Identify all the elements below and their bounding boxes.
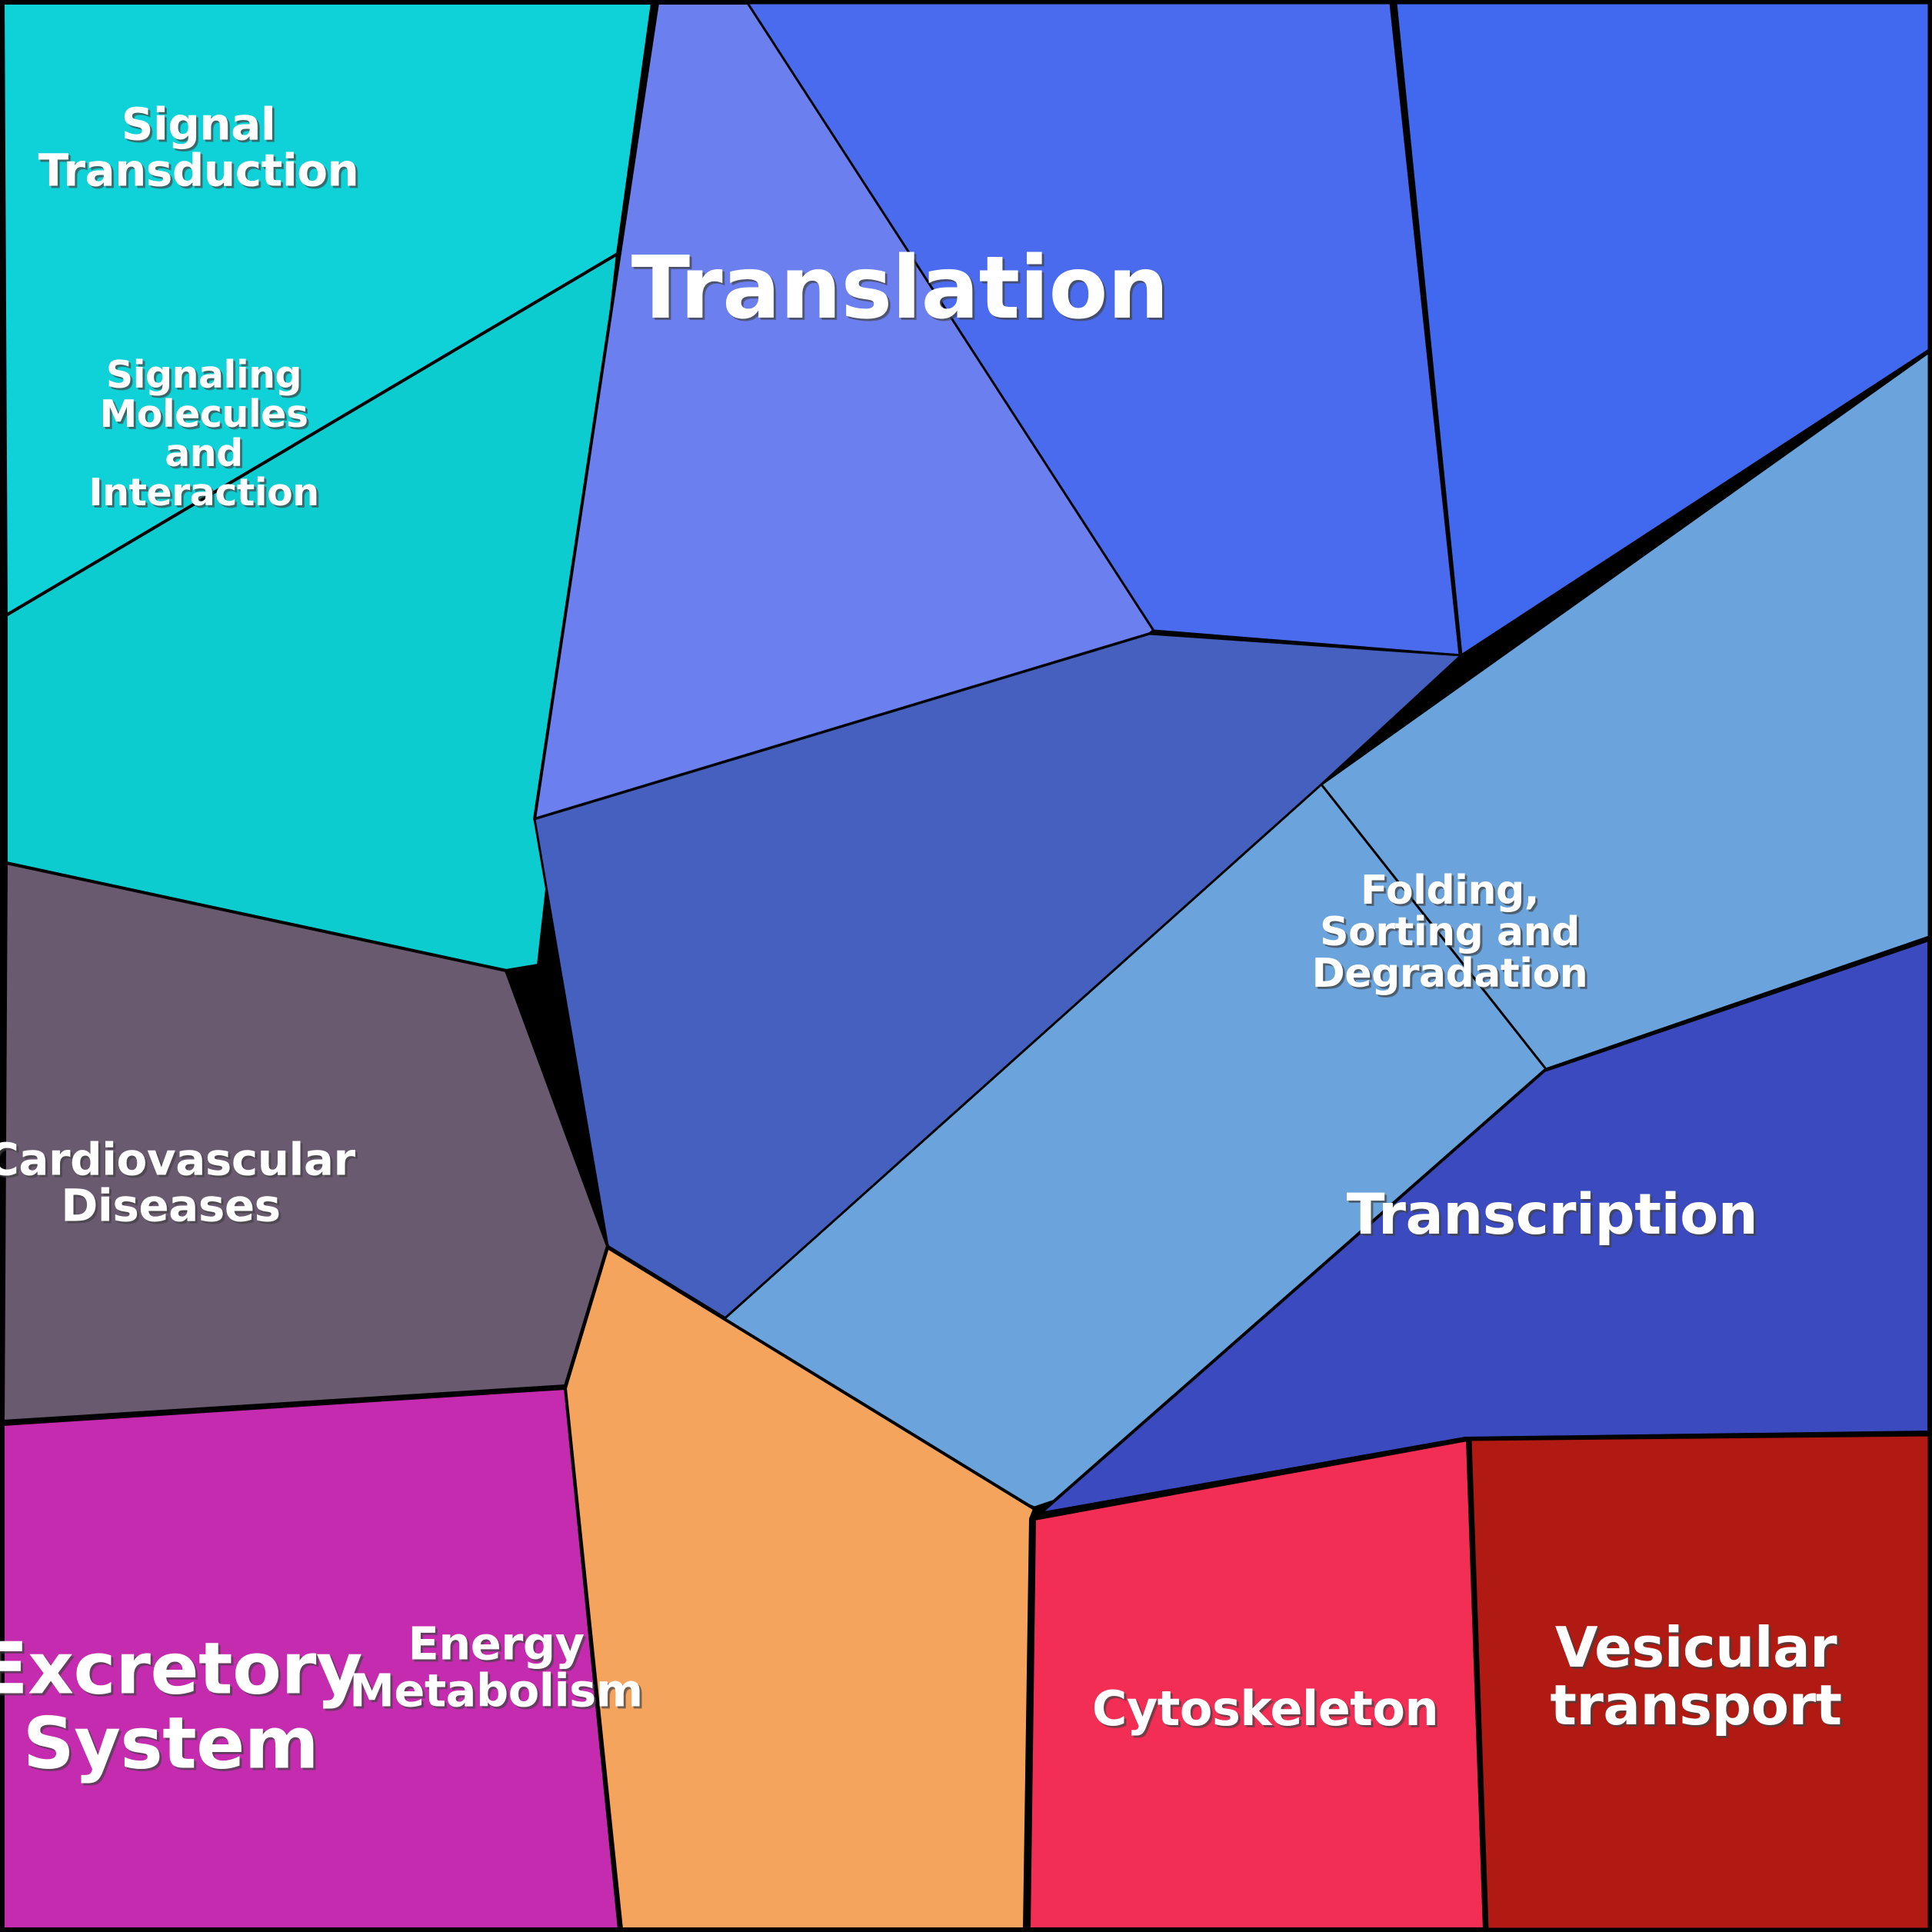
- treemap-cell-vesicular-transport[interactable]: [1471, 1435, 1929, 1929]
- treemap-cell-cytoskeleton[interactable]: [1029, 1440, 1484, 1929]
- treemap-cell-excretory-system[interactable]: [3, 1388, 619, 1929]
- treemap-canvas: [0, 0, 1932, 1932]
- treemap-cells-group: [3, 3, 1929, 1929]
- voronoi-treemap-figure: Signal TransductionSignaling Molecules a…: [0, 0, 1932, 1932]
